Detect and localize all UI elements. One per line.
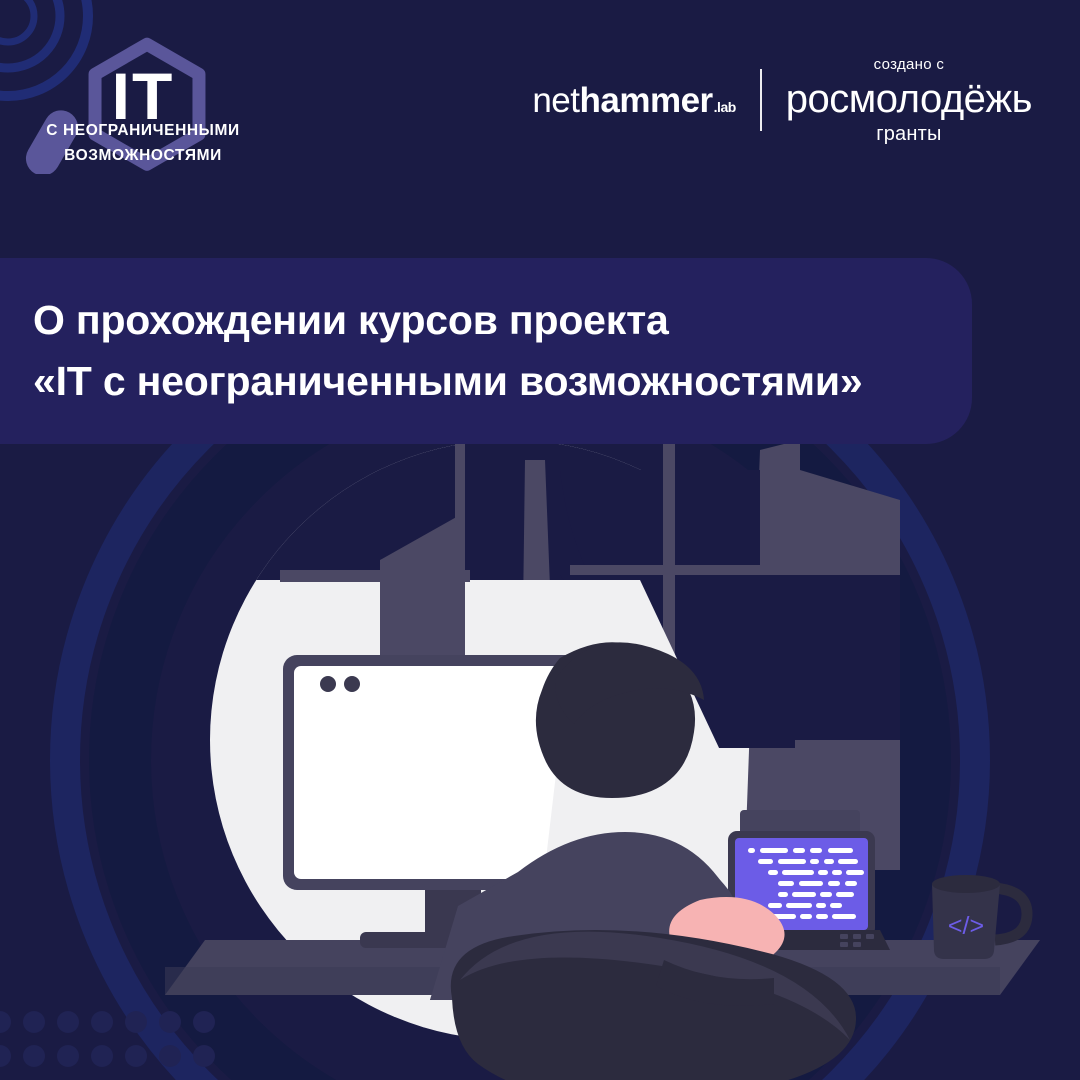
poster-canvas: IT С НЕОГРАНИЧЕННЫМИ ВОЗМОЖНОСТЯМИ netha…: [0, 0, 1080, 1080]
header: IT С НЕОГРАНИЧЕННЫМИ ВОЗМОЖНОСТЯМИ netha…: [0, 0, 1080, 200]
rosmolodezh-top: создано с: [786, 57, 1032, 72]
dot-1: [320, 676, 336, 692]
project-logo-subtitle: С НЕОГРАНИЧЕННЫМИ ВОЗМОЖНОСТЯМИ: [18, 118, 268, 168]
logo-divider: [760, 69, 762, 131]
partner-logos: nethammer.lab создано с росмолодёжь гран…: [532, 58, 1032, 142]
rosmolodezh-main: росмолодёжь: [786, 79, 1032, 119]
mug-rim: [932, 875, 1000, 893]
project-subtitle-line-2: ВОЗМОЖНОСТЯМИ: [64, 147, 222, 164]
nethammer-net: net: [532, 83, 579, 118]
rosmolodezh-bottom: гранты: [786, 124, 1032, 144]
banner-heading: О прохождении курсов проекта «IT с неогр…: [33, 290, 932, 412]
nethammer-logo: nethammer.lab: [532, 83, 735, 118]
banner-line-2: «IT с неограниченными возможностями»: [33, 351, 932, 412]
project-logo: IT С НЕОГРАНИЧЕННЫМИ ВОЗМОЖНОСТЯМИ: [18, 34, 268, 174]
code-brackets-icon: </>: [948, 912, 984, 940]
dot-2: [344, 676, 360, 692]
banner-line-1: О прохождении курсов проекта: [33, 290, 932, 351]
developer-at-desk-illustration: </>: [0, 440, 1080, 1080]
title-banner: О прохождении курсов проекта «IT с неогр…: [0, 258, 972, 444]
nethammer-lab: .lab: [714, 100, 736, 114]
nethammer-hammer: hammer: [580, 83, 713, 118]
project-logo-title: IT: [18, 66, 268, 126]
rosmolodezh-logo: создано с росмолодёжь гранты: [786, 57, 1032, 144]
project-subtitle-line-1: С НЕОГРАНИЧЕННЫМИ: [46, 122, 239, 139]
